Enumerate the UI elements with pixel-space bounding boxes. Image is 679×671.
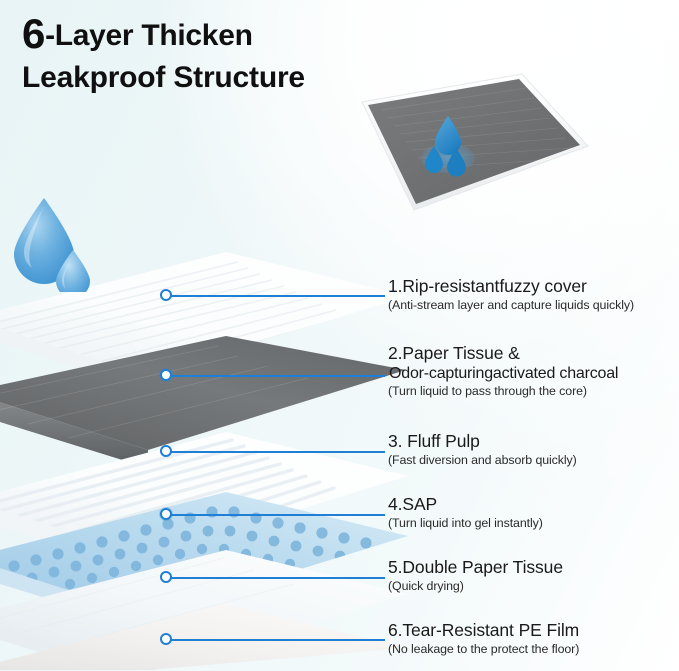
connector-dot-4 bbox=[160, 508, 172, 520]
water-droplet-icon bbox=[6, 196, 98, 292]
connector-line-3 bbox=[160, 445, 385, 459]
connector-line-5 bbox=[160, 571, 385, 585]
connector-line-6-stroke bbox=[167, 639, 385, 641]
layer-label-3-subtitle: (Fast diversion and absorb quickly) bbox=[388, 452, 577, 468]
layer-label-1: 1.Rip-resistantfuzzy cover (Anti-stream … bbox=[388, 276, 634, 313]
connector-line-5-stroke bbox=[167, 577, 385, 579]
connector-dot-5 bbox=[160, 571, 172, 583]
page-title: 6-Layer Thicken Leakproof Structure bbox=[22, 14, 442, 100]
layer-label-6: 6.Tear-Resistant PE Film (No leakage to … bbox=[388, 620, 579, 657]
layer-label-4-subtitle: (Turn liquid into gel instantly) bbox=[388, 515, 543, 531]
connector-line-1-stroke bbox=[167, 295, 385, 297]
connector-dot-6 bbox=[160, 633, 172, 645]
layer-label-2-title: 2.Paper Tissue & bbox=[388, 343, 618, 364]
layer-label-2-subtitle: (Turn liquid to pass through the core) bbox=[388, 383, 618, 399]
layer-label-5-subtitle: (Quick drying) bbox=[388, 578, 563, 594]
connector-line-2 bbox=[160, 369, 385, 383]
connector-line-4-stroke bbox=[167, 514, 385, 516]
layer-label-5: 5.Double Paper Tissue (Quick drying) bbox=[388, 557, 563, 594]
connector-dot-2 bbox=[160, 369, 172, 381]
connector-line-2-stroke bbox=[167, 375, 385, 377]
layer-label-2-title-line-2: Odor-capturingactivated charcoal bbox=[389, 364, 618, 383]
layer-label-1-subtitle: (Anti-stream layer and capture liquids q… bbox=[388, 297, 634, 313]
layer-label-3: 3. Fluff Pulp (Fast diversion and absorb… bbox=[388, 431, 577, 468]
layer-label-3-title: 3. Fluff Pulp bbox=[388, 431, 577, 452]
layer-label-1-title: 1.Rip-resistantfuzzy cover bbox=[388, 276, 634, 297]
connector-dot-3 bbox=[160, 445, 172, 457]
connector-line-3-stroke bbox=[167, 451, 385, 453]
layer-label-6-title: 6.Tear-Resistant PE Film bbox=[388, 620, 579, 641]
layer-label-6-subtitle: (No leakage to the protect the floor) bbox=[388, 641, 579, 657]
connector-line-4 bbox=[160, 508, 385, 522]
title-line-2: Leakproof Structure bbox=[22, 56, 442, 100]
title-line-1: 6-Layer Thicken bbox=[22, 14, 442, 56]
connector-dot-1 bbox=[160, 289, 172, 301]
layer-label-5-title: 5.Double Paper Tissue bbox=[388, 557, 563, 578]
infographic-canvas: 6-Layer Thicken Leakproof Structure bbox=[0, 0, 679, 671]
connector-line-6 bbox=[160, 633, 385, 647]
layer-label-4-title: 4.SAP bbox=[388, 494, 543, 515]
title-line-1-rest: -Layer Thicken bbox=[45, 19, 253, 52]
droplet-illustration bbox=[6, 196, 98, 292]
layer-label-4: 4.SAP (Turn liquid into gel instantly) bbox=[388, 494, 543, 531]
layer-label-2: 2.Paper Tissue & Odor-capturingactivated… bbox=[388, 343, 618, 399]
title-big-number: 6 bbox=[22, 10, 45, 57]
connector-line-1 bbox=[160, 289, 385, 303]
